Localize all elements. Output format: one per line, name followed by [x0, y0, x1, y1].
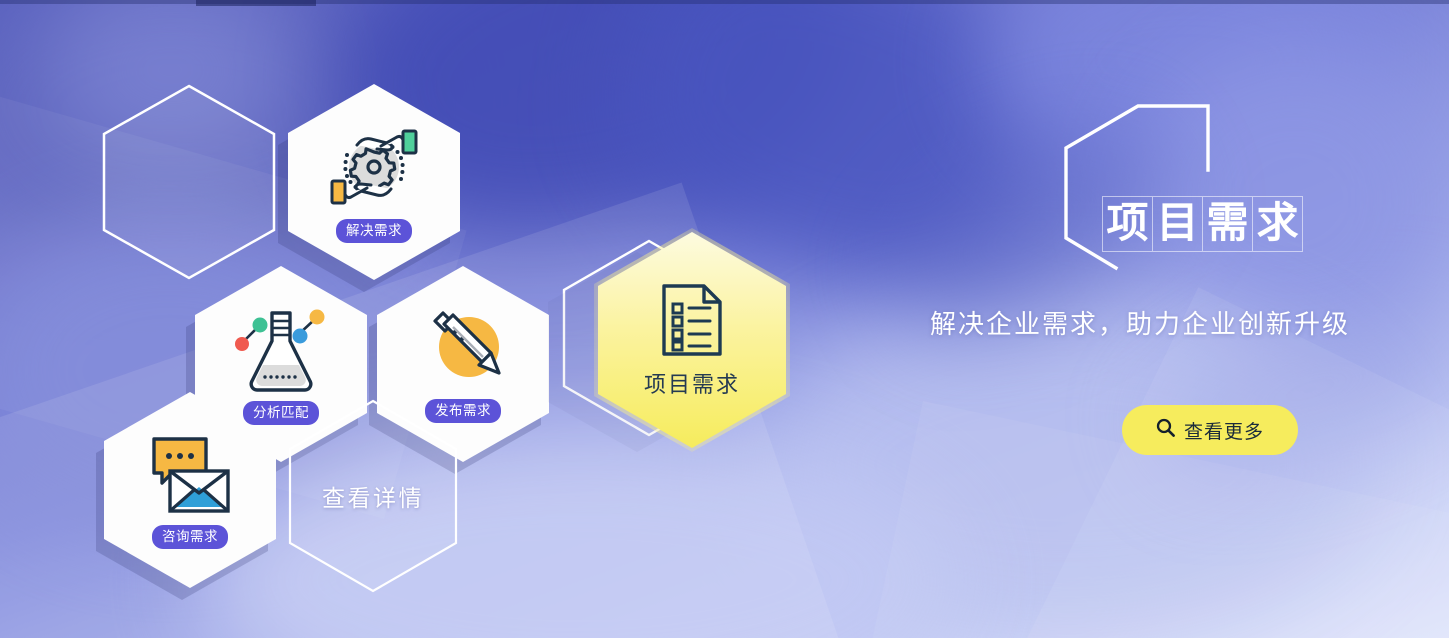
logo-char: 求 [1253, 196, 1303, 252]
hero-text-panel: 项 目 需 求 解决企业需求，助力企业创新升级 查看更多 [860, 70, 1420, 500]
view-more-label: 查看更多 [1184, 417, 1264, 444]
hexagon-solve-label: 解决需求 [336, 219, 412, 244]
flask-molecule-icon [229, 303, 333, 395]
hexagon-empty-outline [100, 82, 278, 282]
logo-char: 项 [1102, 196, 1153, 252]
hero-banner: 解决需求 [0, 0, 1449, 638]
checklist-document-icon [656, 282, 728, 358]
logo-hexagon-outline [1056, 100, 1232, 284]
logo-char: 需 [1203, 196, 1253, 252]
hands-gear-icon [321, 121, 427, 213]
hexagon-project-label: 项目需求 [644, 367, 740, 399]
view-more-button[interactable]: 查看更多 [1122, 405, 1298, 455]
hexagon-consult-label: 咨询需求 [152, 525, 228, 550]
top-edge-strip-dark [196, 0, 316, 6]
hexagon-card-detail[interactable]: 查看详情 [287, 398, 459, 594]
search-icon [1156, 418, 1175, 443]
brand-logo: 项 目 需 求 [1056, 100, 1316, 280]
pen-circle-icon [413, 305, 513, 393]
hexagon-detail-label: 查看详情 [322, 479, 424, 513]
hero-subtitle: 解决企业需求，助力企业创新升级 [860, 304, 1420, 341]
chat-envelope-icon [140, 431, 240, 519]
logo-char: 目 [1153, 196, 1203, 252]
logo-title: 项 目 需 求 [1102, 196, 1303, 252]
